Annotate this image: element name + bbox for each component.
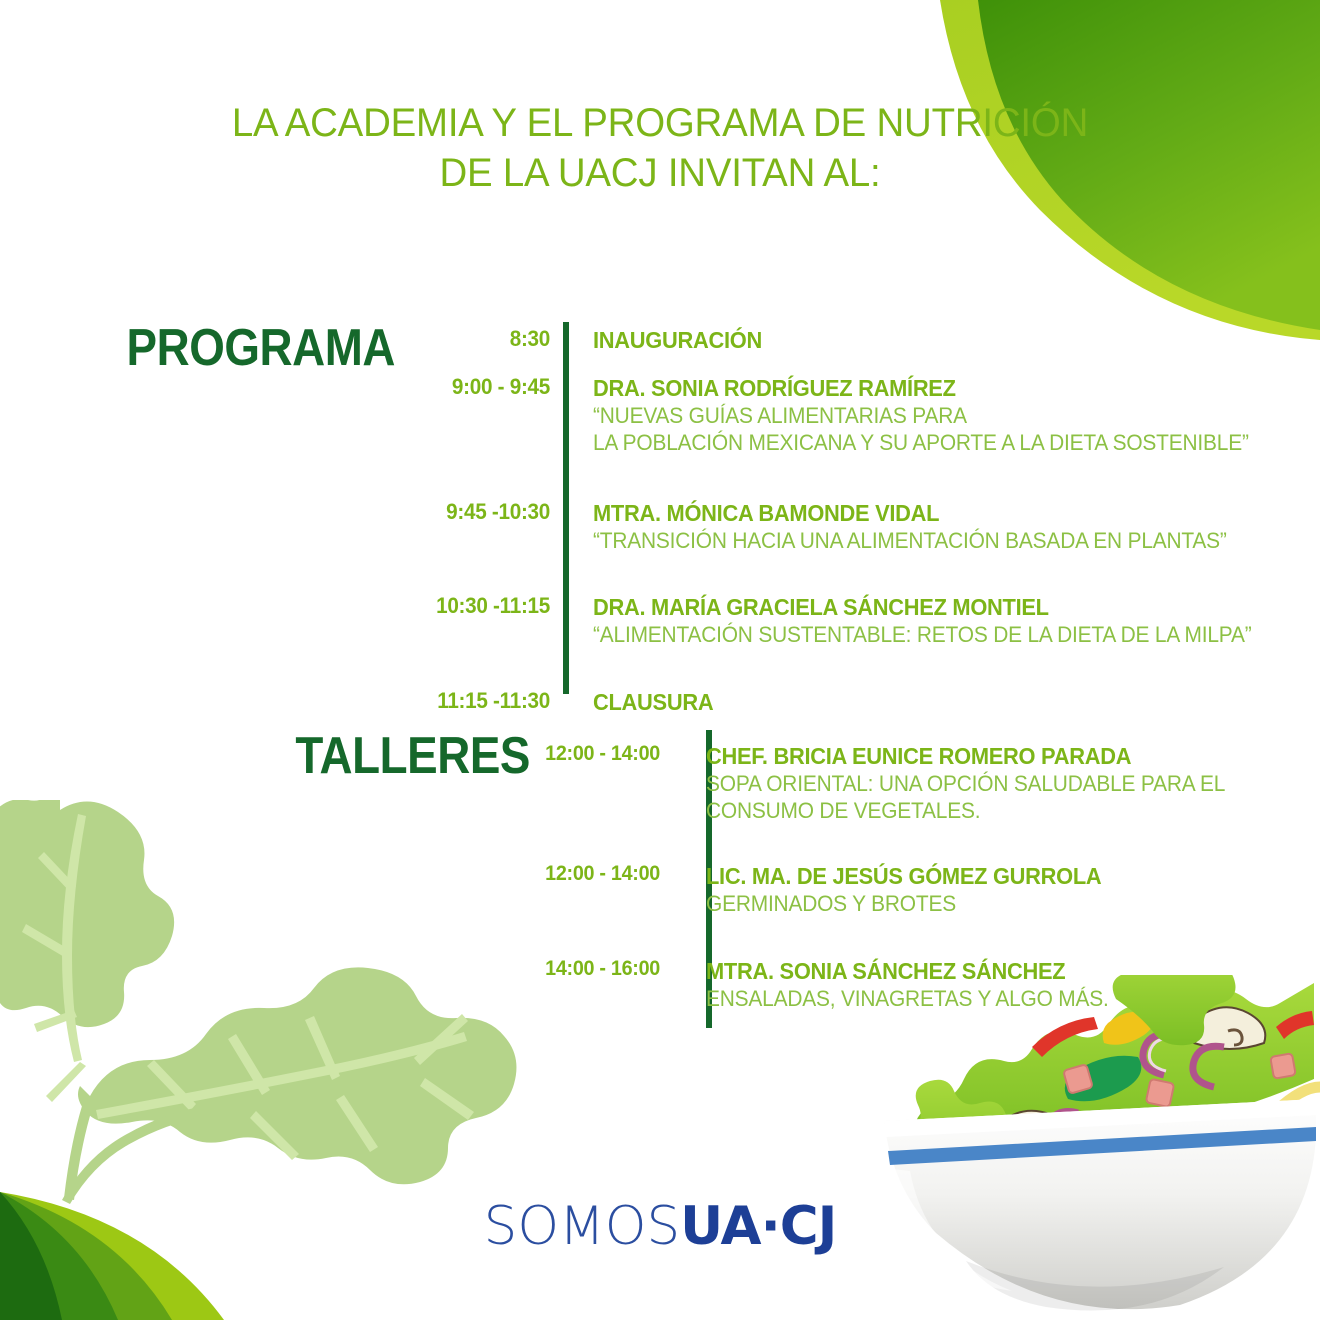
row-gutter <box>550 688 593 716</box>
row-time: 14:00 - 16:00 <box>481 957 660 1012</box>
row-gutter <box>550 374 593 456</box>
workshop-title-line: ENSALADAS, VINAGRETAS Y ALGO MÁS. <box>706 985 1204 1012</box>
leaf-stem-upper <box>64 1106 92 1200</box>
session-title: CLAUSURA <box>593 688 1189 716</box>
logo-somos-text: SOMOS <box>484 1196 680 1257</box>
logo-cj-text: CJ <box>780 1196 837 1257</box>
mushroom-slice <box>1192 1007 1265 1049</box>
programa-schedule: 8:30 INAUGURACIÓN 9:00 - 9:45 DRA. SONIA… <box>360 322 1220 716</box>
row-gutter <box>660 742 706 824</box>
table-row: 12:00 - 14:00 LIC. MA. DE JESÚS GÓMEZ GU… <box>470 862 1230 917</box>
talk-title-line: “ALIMENTACIÓN SUSTENTABLE: RETOS DE LA D… <box>593 621 1252 648</box>
row-time: 12:00 - 14:00 <box>481 742 660 824</box>
yellow-pepper <box>1103 1011 1154 1044</box>
onion-ring <box>977 1034 1224 1167</box>
row-detail: DRA. SONIA RODRÍGUEZ RAMÍREZ “NUEVAS GUÍ… <box>593 374 1283 456</box>
row-detail: MTRA. SONIA SÁNCHEZ SÁNCHEZ ENSALADAS, V… <box>706 957 1230 1012</box>
dressing-highlight <box>976 1134 1130 1167</box>
row-gutter <box>550 593 593 648</box>
row-detail: MTRA. MÓNICA BAMONDE VIDAL “TRANSICIÓN H… <box>593 499 1260 554</box>
row-detail: DRA. MARÍA GRACIELA SÁNCHEZ MONTIEL “ALI… <box>593 593 1286 648</box>
somos-uacj-logo: SOMOSUA·CJ <box>0 1196 1320 1257</box>
row-gutter <box>550 499 593 554</box>
salad-bowl-illustration <box>880 975 1320 1320</box>
programa-heading: PROGRAMA <box>47 318 395 378</box>
poster-title: LA ACADEMIA Y EL PROGRAMA DE NUTRICIÓN D… <box>0 98 1320 198</box>
row-gutter <box>660 862 706 917</box>
table-row: 10:30 -11:15 DRA. MARÍA GRACIELA SÁNCHEZ… <box>360 593 1220 648</box>
dressing-drizzle <box>970 1087 1320 1171</box>
bowl-shading <box>966 1261 1224 1311</box>
speaker-name: DRA. SONIA RODRÍGUEZ RAMÍREZ <box>593 374 1249 402</box>
table-row: 9:45 -10:30 MTRA. MÓNICA BAMONDE VIDAL “… <box>360 499 1220 554</box>
title-line-1: LA ACADEMIA Y EL PROGRAMA DE NUTRICIÓN <box>26 98 1293 148</box>
green-pepper <box>1065 1056 1142 1102</box>
lettuce-leaf-horizontal <box>78 967 516 1184</box>
lettuce-frill <box>900 1080 1008 1190</box>
row-time: 9:45 -10:30 <box>371 499 550 554</box>
session-title: INAUGURACIÓN <box>593 326 1189 354</box>
row-detail: INAUGURACIÓN <box>593 326 1220 354</box>
title-line-2: DE LA UACJ INVITAN AL: <box>26 148 1293 198</box>
workshop-title-line: SOPA ORIENTAL: UNA OPCIÓN SALUDABLE PARA… <box>706 770 1225 797</box>
workshop-title-line: GERMINADOS Y BROTES <box>706 890 1204 917</box>
logo-dot-icon: · <box>761 1196 780 1257</box>
speaker-name: LIC. MA. DE JESÚS GÓMEZ GURROLA <box>706 862 1204 890</box>
speaker-name: CHEF. BRICIA EUNICE ROMERO PARADA <box>706 742 1225 770</box>
row-time: 10:30 -11:15 <box>371 593 550 648</box>
logo-ua-text: UA <box>680 1196 760 1257</box>
row-detail: CLAUSURA <box>593 688 1220 716</box>
poster-canvas: LA ACADEMIA Y EL PROGRAMA DE NUTRICIÓN D… <box>0 0 1320 1320</box>
row-time: 11:15 -11:30 <box>371 688 550 716</box>
mushroom-slice <box>995 1111 1073 1151</box>
ham-cube <box>981 1053 1296 1172</box>
talk-title-line: “TRANSICIÓN HACIA UNA ALIMENTACIÓN BASAD… <box>593 527 1227 554</box>
bowl-rim <box>884 1099 1316 1137</box>
row-gutter <box>550 326 593 354</box>
row-detail: CHEF. BRICIA EUNICE ROMERO PARADA SOPA O… <box>706 742 1252 824</box>
tomato-strip <box>958 1011 1314 1171</box>
workshop-title-line: CONSUMO DE VEGETALES. <box>706 797 1225 824</box>
speaker-name: DRA. MARÍA GRACIELA SÁNCHEZ MONTIEL <box>593 593 1252 621</box>
table-row: 9:00 - 9:45 DRA. SONIA RODRÍGUEZ RAMÍREZ… <box>360 374 1220 456</box>
row-detail: LIC. MA. DE JESÚS GÓMEZ GURROLA GERMINAD… <box>706 862 1230 917</box>
talk-title-line: LA POBLACIÓN MEXICANA Y SU APORTE A LA D… <box>593 429 1249 456</box>
talk-title-line: “NUEVAS GUÍAS ALIMENTARIAS PARA <box>593 402 1249 429</box>
speaker-name: MTRA. SONIA SÁNCHEZ SÁNCHEZ <box>706 957 1204 985</box>
row-time: 9:00 - 9:45 <box>371 374 550 456</box>
table-row: 11:15 -11:30 CLAUSURA <box>360 688 1220 716</box>
onion-ring-highlight <box>983 1039 1174 1164</box>
row-gutter <box>660 957 706 1012</box>
table-row: 8:30 INAUGURACIÓN <box>360 326 1220 354</box>
row-time: 12:00 - 14:00 <box>481 862 660 917</box>
talleres-heading: TALLERES <box>64 726 530 786</box>
table-row: 12:00 - 14:00 CHEF. BRICIA EUNICE ROMERO… <box>470 742 1230 824</box>
row-time: 8:30 <box>371 326 550 354</box>
talleres-schedule: 12:00 - 14:00 CHEF. BRICIA EUNICE ROMERO… <box>470 730 1230 1012</box>
bowl-blue-stripe <box>888 1127 1316 1165</box>
lettuce-leaf-upright <box>0 800 174 1102</box>
table-row: 14:00 - 16:00 MTRA. SONIA SÁNCHEZ SÁNCHE… <box>470 957 1230 1012</box>
speaker-name: MTRA. MÓNICA BAMONDE VIDAL <box>593 499 1227 527</box>
leaf-stem <box>62 1106 206 1204</box>
